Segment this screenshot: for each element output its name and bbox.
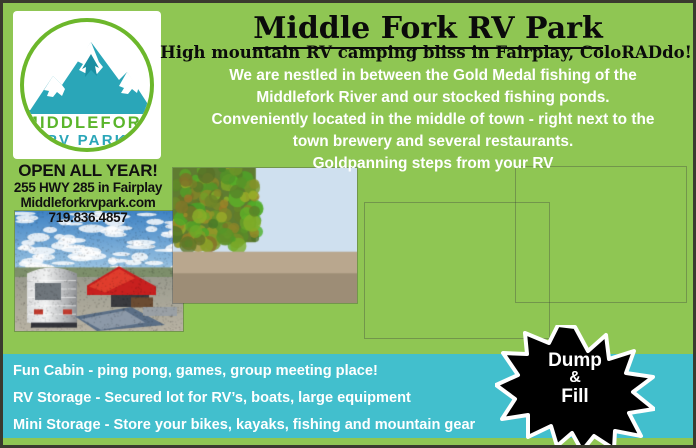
body-copy: We are nestled in between the Gold Medal…: [183, 65, 683, 174]
list-item: RV Storage - Secured lot for RV’s, boats…: [13, 385, 513, 412]
logo-subname: RV PARK: [24, 132, 150, 149]
body-copy-line-5: Goldpanning steps from your RV: [183, 153, 683, 175]
page-title: Middle Fork RV Park: [163, 11, 693, 46]
services-list: Fun Cabin - ping pong, games, group meet…: [13, 358, 513, 439]
list-item: Mini Storage - Store your bikes, kayaks,…: [13, 412, 513, 439]
website-line[interactable]: Middleforkrvpark.com: [7, 195, 169, 210]
address-line: 255 HWY 285 in Fairplay: [7, 180, 169, 195]
rv-park-advertisement: MIDDLEFORK RV PARK OPEN ALL YEAR! 255 HW…: [0, 0, 696, 448]
mountain-icon: [29, 40, 153, 118]
body-copy-line-4: town brewery and several restaurants.: [183, 131, 683, 153]
contact-block: OPEN ALL YEAR! 255 HWY 285 in Fairplay M…: [7, 161, 169, 225]
photo-sunset-canvas: [516, 167, 686, 302]
photo-airstream-campsite-canvas: [15, 211, 183, 331]
photo-airstream-campsite: [15, 211, 183, 331]
logo: MIDDLEFORK RV PARK: [13, 11, 161, 159]
list-item: Fun Cabin - ping pong, games, group meet…: [13, 358, 513, 385]
dump-and-fill-badge: Dump & Fill: [495, 325, 655, 448]
photo-truck-kayaks-canvas: [173, 168, 357, 303]
logo-circle: MIDDLEFORK RV PARK: [20, 18, 154, 152]
phone-line[interactable]: 719.836.4857: [7, 210, 169, 225]
starburst-icon: [495, 325, 655, 448]
open-all-year-label: OPEN ALL YEAR!: [7, 161, 169, 180]
photo-truck-kayaks: [173, 168, 357, 303]
page-subtitle: High mountain RV camping bliss in Fairpl…: [155, 43, 696, 62]
body-copy-line-1: We are nestled in between the Gold Medal…: [183, 65, 683, 87]
body-copy-line-3: Conveniently located in the middle of to…: [183, 109, 683, 131]
logo-name: MIDDLEFORK: [24, 114, 150, 133]
photo-sunset: [516, 167, 686, 302]
body-copy-line-2: Middlefork River and our stocked fishing…: [183, 87, 683, 109]
